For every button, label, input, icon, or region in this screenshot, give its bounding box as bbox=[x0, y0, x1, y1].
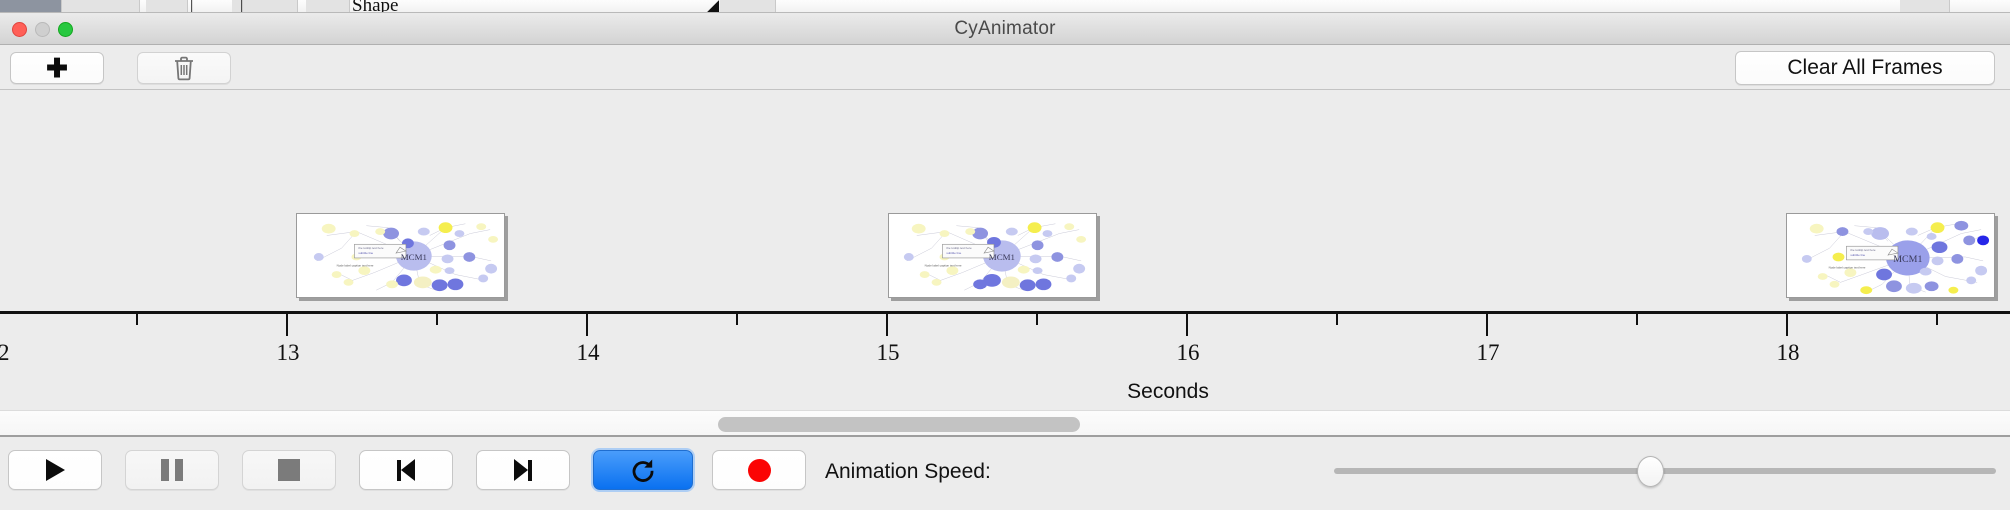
svg-text:the tooltip text here: the tooltip text here bbox=[1850, 248, 1876, 252]
axis-title: Seconds bbox=[1127, 380, 1209, 404]
network-graph-preview: the tooltip text here subtitle line Node… bbox=[297, 214, 504, 297]
axis-tick-minor bbox=[136, 314, 138, 325]
bg-glyph: | bbox=[190, 0, 193, 13]
axis-label: 15 bbox=[877, 340, 900, 366]
svg-text:Node label caption text here: Node label caption text here bbox=[337, 264, 374, 268]
stop-icon bbox=[278, 459, 300, 481]
bg-chip bbox=[0, 0, 62, 13]
pause-icon bbox=[161, 459, 183, 481]
svg-text:Node label caption text here: Node label caption text here bbox=[1829, 266, 1866, 270]
axis-tick-minor bbox=[1636, 314, 1638, 325]
bg-chip bbox=[720, 0, 776, 13]
axis-tick-minor bbox=[1336, 314, 1338, 325]
skip-forward-icon bbox=[514, 459, 532, 481]
timeline-panel[interactable]: the tooltip text here subtitle line Node… bbox=[0, 90, 2010, 410]
frame-thumbnail-3[interactable]: the tooltip text here subtitle line Node… bbox=[1786, 213, 1995, 298]
add-frame-button[interactable]: ✚ bbox=[10, 52, 104, 84]
timeline-axis-line bbox=[0, 311, 2010, 314]
axis-tick-major bbox=[586, 314, 588, 336]
axis-tick-major bbox=[286, 314, 288, 336]
record-icon bbox=[748, 459, 771, 482]
animation-speed-slider-thumb[interactable] bbox=[1637, 456, 1664, 487]
frame-thumbnail-1[interactable]: the tooltip text here subtitle line Node… bbox=[296, 213, 505, 298]
play-icon bbox=[46, 459, 65, 481]
network-graph-preview: the tooltip text here subtitle line Node… bbox=[889, 214, 1096, 297]
axis-tick-major bbox=[1486, 314, 1488, 336]
axis-tick-minor bbox=[1036, 314, 1038, 325]
axis-tick-minor bbox=[436, 314, 438, 325]
background-window-label: Shape bbox=[352, 0, 398, 13]
center-node-label: MCM1 bbox=[401, 252, 427, 262]
center-node-label: MCM1 bbox=[1893, 254, 1922, 265]
svg-text:the tooltip text here: the tooltip text here bbox=[946, 246, 972, 250]
skip-back-button[interactable] bbox=[359, 450, 453, 490]
scrollbar-thumb[interactable] bbox=[718, 417, 1080, 432]
axis-label: 13 bbox=[277, 340, 300, 366]
bg-chip bbox=[146, 0, 188, 13]
clear-all-frames-label: Clear All Frames bbox=[1787, 56, 1942, 80]
play-button[interactable] bbox=[8, 450, 102, 490]
bg-chip bbox=[1900, 0, 1950, 13]
axis-label: 17 bbox=[1477, 340, 1500, 366]
pause-button[interactable] bbox=[125, 450, 219, 490]
animation-speed-label: Animation Speed: bbox=[825, 460, 991, 484]
delete-frame-button[interactable] bbox=[137, 52, 231, 84]
playback-control-bar: Animation Speed: bbox=[0, 437, 2010, 510]
window-titlebar: CyAnimator bbox=[0, 13, 2010, 45]
axis-tick-minor bbox=[1936, 314, 1938, 325]
loop-icon bbox=[628, 455, 658, 485]
stop-button[interactable] bbox=[242, 450, 336, 490]
skip-forward-button[interactable] bbox=[476, 450, 570, 490]
network-graph-preview: the tooltip text here subtitle line Node… bbox=[1787, 214, 1994, 297]
axis-label: 14 bbox=[577, 340, 600, 366]
bg-chip bbox=[306, 0, 350, 13]
frame-thumbnail-2[interactable]: the tooltip text here subtitle line Node… bbox=[888, 213, 1097, 298]
record-button[interactable] bbox=[712, 450, 806, 490]
clear-all-frames-button[interactable]: Clear All Frames bbox=[1735, 51, 1995, 85]
axis-tick-minor bbox=[736, 314, 738, 325]
axis-label: 16 bbox=[1177, 340, 1200, 366]
plus-icon: ✚ bbox=[46, 55, 68, 81]
svg-text:Node label caption text here: Node label caption text here bbox=[925, 264, 962, 268]
toolbar: ✚ Clear All Frames bbox=[0, 45, 2010, 90]
axis-tick-major bbox=[886, 314, 888, 336]
animation-speed-slider-track[interactable] bbox=[1334, 468, 1996, 474]
axis-label: 18 bbox=[1777, 340, 1800, 366]
bg-chip bbox=[62, 0, 140, 13]
background-window-strip: | | ◢ Shape bbox=[0, 0, 2010, 13]
svg-text:the tooltip text here: the tooltip text here bbox=[358, 246, 384, 250]
timeline-scrollbar[interactable] bbox=[0, 410, 2010, 437]
axis-label: 12 bbox=[0, 340, 10, 366]
svg-text:subtitle line: subtitle line bbox=[358, 251, 373, 255]
loop-button[interactable] bbox=[593, 450, 693, 490]
axis-tick-major bbox=[1786, 314, 1788, 336]
skip-back-icon bbox=[397, 459, 415, 481]
bg-glyph: ◢ bbox=[706, 0, 719, 13]
bg-glyph: | bbox=[240, 0, 243, 13]
trash-icon bbox=[173, 55, 195, 81]
svg-text:subtitle line: subtitle line bbox=[946, 251, 961, 255]
axis-tick-major bbox=[1186, 314, 1188, 336]
center-node-label: MCM1 bbox=[989, 252, 1015, 262]
svg-text:subtitle line: subtitle line bbox=[1850, 253, 1865, 257]
window-title: CyAnimator bbox=[0, 18, 2010, 40]
